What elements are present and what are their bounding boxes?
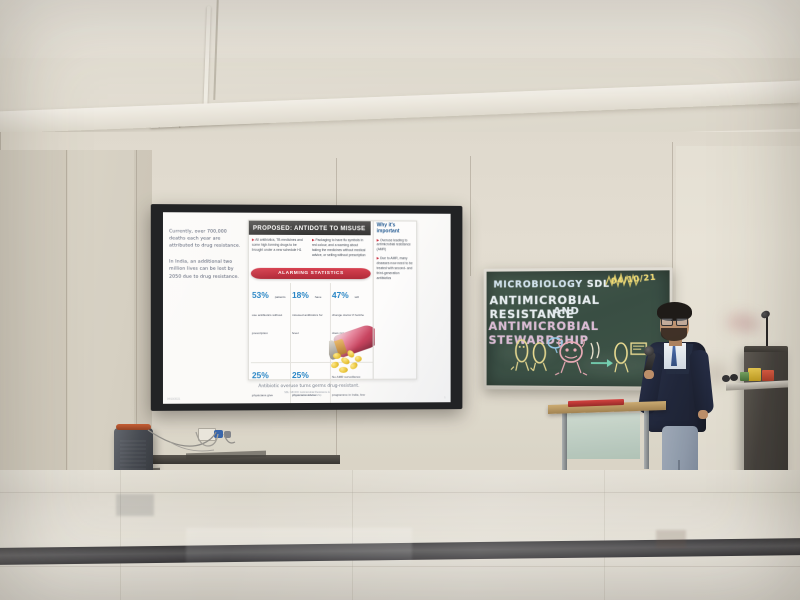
presenter-hand-left: [644, 370, 654, 379]
shelf-box-yellow: [748, 368, 761, 381]
desk: [548, 403, 666, 473]
presenter-reflection: [656, 530, 686, 548]
slide-caption: Antibiotic overuse turns germs drug-resi…: [234, 384, 384, 390]
alarming-statistics-banner: ALARMING STATISTICS: [251, 268, 371, 279]
blackboard-line-3: AND: [553, 306, 579, 317]
screen-reflection: [186, 528, 412, 564]
blackboard-line-1: MICROBIOLOGY SDL: [493, 279, 609, 291]
proposal-columns: ▶ All antibiotics, TB medicines and some…: [252, 238, 370, 258]
stat-cell: 18% have misused antibiotics for fever: [291, 283, 331, 362]
why-important-header: Why it's important: [377, 223, 415, 235]
shelf-item-dark: [730, 374, 738, 381]
why-important-column: Why it's important ▶ Overuse leading to …: [373, 221, 416, 378]
why-bullet-text: Overuse leading to antimicrobial resista…: [377, 238, 411, 252]
pill-bottle-image: [329, 323, 375, 377]
desk-modesty-panel: [566, 413, 640, 459]
glasses-icon: [661, 318, 687, 324]
ceiling: [0, 0, 800, 150]
microphone-head-icon: [644, 346, 654, 356]
projection-screen: Currently, over 700,000 deaths each year…: [151, 204, 463, 411]
stat-value: 53%: [252, 291, 269, 299]
slide-left-notes: Currently, over 700,000 deaths each year…: [169, 228, 244, 289]
blackboard-subject: MICROBIOLOGY: [493, 279, 582, 290]
why-bullet: ▶ Overuse leading to antimicrobial resis…: [377, 238, 415, 253]
slide-note-1: Currently, over 700,000 deaths each year…: [169, 228, 244, 250]
infographic-header: PROPOSED: ANTIDOTE TO MISUSE: [249, 221, 371, 236]
ceiling-slab: [0, 0, 800, 58]
slide-subcaption-2: Antimicrobial Stewardship: [242, 394, 372, 398]
proposal-bullet-text: Packaging to have flu symbols in red col…: [312, 238, 366, 257]
presenter-beard: [661, 328, 687, 341]
proposal-bullet-text: All antibiotics, TB medicines and some h…: [252, 238, 303, 252]
slide-note-2: In India, an additional two million live…: [169, 259, 244, 281]
proposal-bullet: ▶ All antibiotics, TB medicines and some…: [252, 238, 307, 258]
shelf-item-dark: [722, 375, 730, 382]
slide-date-stamp: 04/10/2021: [167, 398, 180, 401]
stat-value: 47%: [332, 291, 349, 299]
stat-value: 18%: [292, 291, 309, 299]
projected-slide: Currently, over 700,000 deaths each year…: [163, 212, 451, 404]
proposal-bullet: ▶ Packaging to have flu symbols in red c…: [312, 238, 367, 258]
why-bullet-text: Due to AMR, many diseases now need to be…: [377, 257, 413, 281]
shelf-box-green: [740, 372, 749, 381]
presenter-hand-right: [698, 410, 708, 419]
lecture-hall-photo: Currently, over 700,000 deaths each year…: [0, 0, 800, 600]
why-bullet: ▶ Due to AMR, many diseases now need to …: [377, 257, 415, 282]
stat-cell: 53% patients use antibiotics without pre…: [251, 283, 291, 362]
shelf-box-red: [762, 370, 774, 381]
chalk-doodles: [510, 337, 649, 384]
stat-text: have misused antibiotics for fever: [292, 295, 323, 335]
ceiling-beam-front: [0, 81, 800, 134]
slide-subcaption: SDL: MICRO: Antimicrobial Resistance & A…: [242, 390, 372, 398]
slide-infographic: PROPOSED: ANTIDOTE TO MISUSE ▶ All antib…: [248, 220, 417, 381]
gooseneck-mic-stand: [766, 316, 768, 348]
speaker-reflection: [116, 494, 154, 516]
stat-text: patients use antibiotics without prescri…: [252, 295, 286, 335]
slide-page-number: 1: [444, 396, 445, 399]
